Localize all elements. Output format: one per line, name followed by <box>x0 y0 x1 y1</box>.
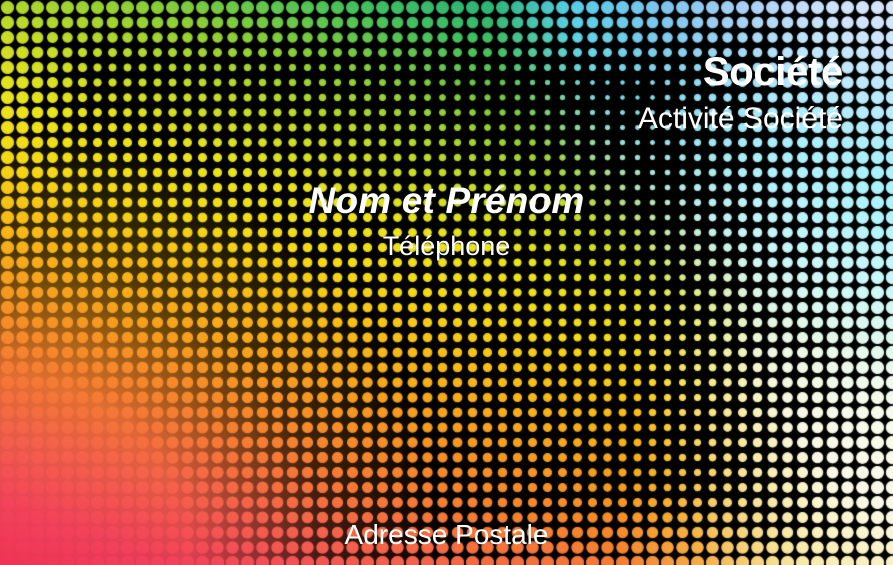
business-card: Société Activité Société Nom et Prénom T… <box>0 0 893 565</box>
company-activity: Activité Société <box>638 104 843 134</box>
postal-address: Adresse Postale <box>0 521 893 549</box>
person-name: Nom et Prénom <box>0 182 893 219</box>
phone-label: Téléphone <box>0 233 893 260</box>
company-name: Société <box>703 52 843 92</box>
card-text-layer: Société Activité Société Nom et Prénom T… <box>0 0 893 565</box>
